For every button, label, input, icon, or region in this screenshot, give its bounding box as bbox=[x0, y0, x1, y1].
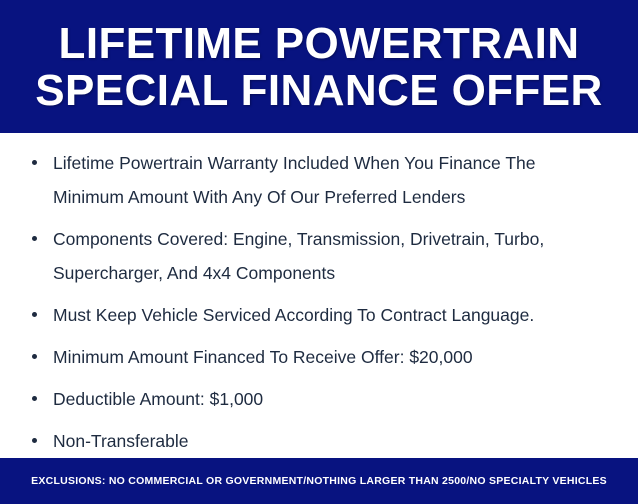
list-item-text: Deductible Amount: $1,000 bbox=[53, 382, 604, 416]
slide-title-line-2: SPECIAL FINANCE OFFER bbox=[35, 67, 602, 114]
offer-terms-list: Lifetime Powertrain Warranty Included Wh… bbox=[24, 146, 604, 458]
bullet-dot-icon bbox=[32, 354, 37, 359]
body-content: Lifetime Powertrain Warranty Included Wh… bbox=[0, 133, 638, 458]
list-item: Must Keep Vehicle Serviced According To … bbox=[24, 298, 604, 332]
slide-title-line-1: LIFETIME POWERTRAIN bbox=[59, 20, 580, 67]
list-item-text: Minimum Amount Financed To Receive Offer… bbox=[53, 340, 604, 374]
footer-band: EXCLUSIONS: NO COMMERCIAL OR GOVERNMENT/… bbox=[0, 458, 638, 504]
list-item: Components Covered: Engine, Transmission… bbox=[24, 222, 604, 290]
list-item: Deductible Amount: $1,000 bbox=[24, 382, 604, 416]
header-band: LIFETIME POWERTRAIN SPECIAL FINANCE OFFE… bbox=[0, 0, 638, 133]
list-item-text: Components Covered: Engine, Transmission… bbox=[53, 222, 604, 290]
list-item: Non-Transferable bbox=[24, 424, 604, 458]
bullet-dot-icon bbox=[32, 312, 37, 317]
exclusions-disclaimer: EXCLUSIONS: NO COMMERCIAL OR GOVERNMENT/… bbox=[31, 475, 607, 487]
list-item-text: Must Keep Vehicle Serviced According To … bbox=[53, 298, 604, 332]
list-item: Minimum Amount Financed To Receive Offer… bbox=[24, 340, 604, 374]
bullet-dot-icon bbox=[32, 236, 37, 241]
list-item-text: Lifetime Powertrain Warranty Included Wh… bbox=[53, 146, 604, 214]
offer-slide: LIFETIME POWERTRAIN SPECIAL FINANCE OFFE… bbox=[0, 0, 638, 479]
list-item-text: Non-Transferable bbox=[53, 424, 604, 458]
bullet-dot-icon bbox=[32, 160, 37, 165]
bullet-dot-icon bbox=[32, 438, 37, 443]
bullet-dot-icon bbox=[32, 396, 37, 401]
list-item: Lifetime Powertrain Warranty Included Wh… bbox=[24, 146, 604, 214]
